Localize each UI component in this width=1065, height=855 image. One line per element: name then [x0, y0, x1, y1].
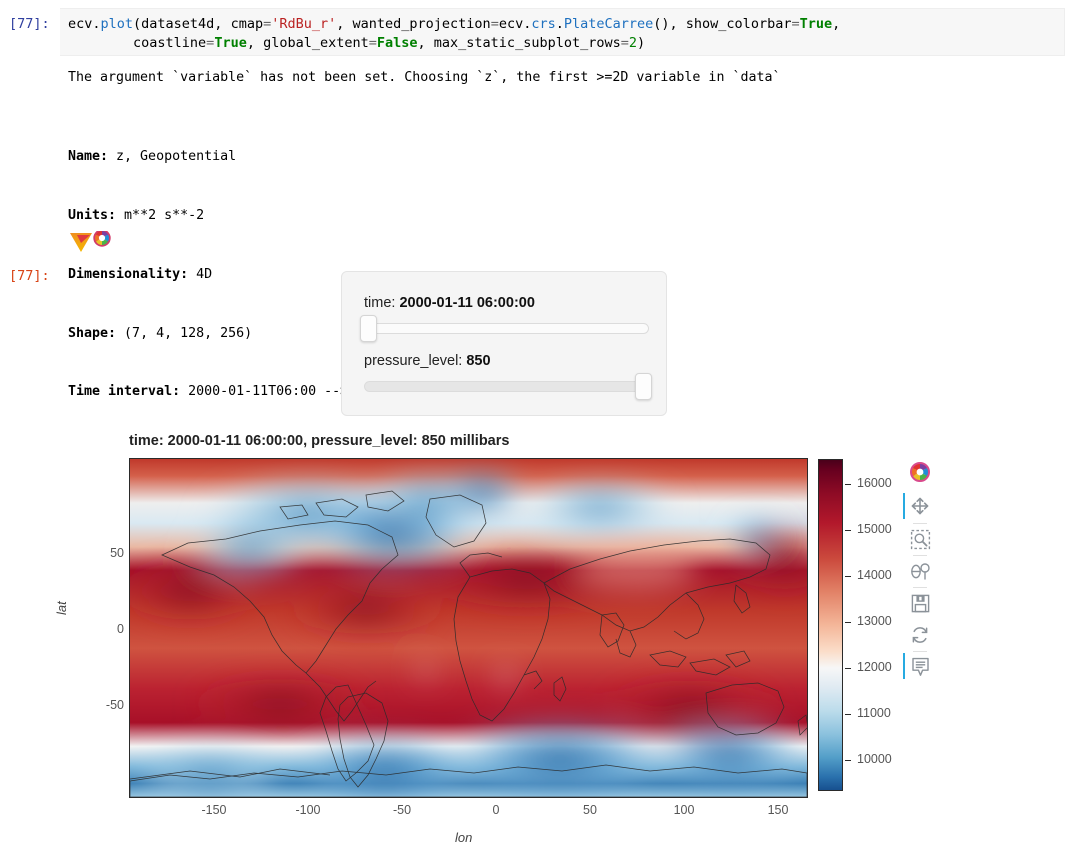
x-tick-label: -150	[184, 803, 244, 817]
plot-container: time: 2000-01-11 06:00:00, pressure_leve…	[0, 425, 1065, 855]
code-token-operator: =	[369, 35, 377, 51]
reset-icon[interactable]	[905, 620, 935, 650]
output-prompt: [77]:	[9, 268, 50, 284]
metadata-key: Shape:	[68, 326, 116, 341]
bokeh-logo-icon	[905, 457, 935, 487]
colorbar-tick-label: 16000	[857, 476, 892, 490]
colorbar-tick-label: 13000	[857, 614, 892, 628]
time-slider-label: time: 2000-01-11 06:00:00	[364, 295, 535, 311]
code-line-2: coastline=True, global_extent=False, max…	[68, 34, 1056, 53]
code-token-operator: =	[263, 16, 271, 32]
metadata-value: m**2 s**-2	[116, 208, 204, 223]
metadata-value: z, Geopotential	[108, 149, 236, 164]
x-tick-label: 0	[466, 803, 526, 817]
code-token: ecv.	[68, 16, 101, 32]
stdout-message: The argument `variable` has not been set…	[68, 68, 780, 88]
time-slider-track[interactable]	[364, 323, 649, 334]
wheel-zoom-icon[interactable]	[905, 556, 935, 586]
pressure-value: 850	[466, 353, 490, 369]
box-zoom-icon[interactable]	[905, 524, 935, 554]
pressure-level-slider-track[interactable]	[364, 381, 649, 392]
colorbar-tick-label: 12000	[857, 660, 892, 674]
y-tick-label: 50	[64, 546, 124, 560]
time-label-prefix: time:	[364, 295, 399, 311]
metadata-value: 4D	[188, 267, 212, 282]
code-token: , global_extent	[247, 35, 369, 51]
pressure-level-slider-handle[interactable]	[635, 373, 652, 400]
holoviews-bokeh-logo-icon	[68, 231, 114, 253]
hover-icon[interactable]	[905, 652, 935, 682]
code-token: coastline	[68, 35, 206, 51]
code-token-keyword: True	[214, 35, 247, 51]
y-axis-ticks: 50 0 -50	[52, 458, 124, 798]
notebook-page: [77]: ecv.plot(dataset4d, cmap='RdBu_r',…	[0, 0, 1065, 855]
code-token: , max_static_subplot_rows	[418, 35, 621, 51]
pan-icon[interactable]	[905, 491, 935, 521]
metadata-key: Time interval:	[68, 384, 180, 399]
metadata-row: Name: z, Geopotential	[68, 147, 484, 167]
code-token-function: PlateCarree	[564, 16, 653, 32]
time-value: 2000-01-11 06:00:00	[399, 295, 534, 311]
colorbar-tick-label: 10000	[857, 752, 892, 766]
colorbar	[818, 459, 843, 791]
code-token-operator: =	[491, 16, 499, 32]
y-tick-label: -50	[64, 698, 124, 712]
code-cell[interactable]: [77]: ecv.plot(dataset4d, cmap='RdBu_r',…	[0, 8, 1065, 56]
x-tick-label: -50	[372, 803, 432, 817]
metadata-value: (7, 4, 128, 256)	[116, 326, 252, 341]
time-slider-handle[interactable]	[360, 315, 377, 342]
save-icon[interactable]	[905, 588, 935, 618]
code-token: ,	[832, 16, 840, 32]
code-token-string: 'RdBu_r'	[271, 16, 336, 32]
code-token-function: plot	[101, 16, 134, 32]
pressure-label-prefix: pressure_level:	[364, 353, 466, 369]
y-tick-label: 0	[64, 622, 124, 636]
x-tick-label: -100	[278, 803, 338, 817]
colorbar-tick-label: 15000	[857, 522, 892, 536]
code-token-number: 2	[629, 35, 637, 51]
colorbar-tick-label: 14000	[857, 568, 892, 582]
plot-title: time: 2000-01-11 06:00:00, pressure_leve…	[129, 433, 509, 449]
widget-panel: time: 2000-01-11 06:00:00 pressure_level…	[341, 271, 667, 416]
input-prompt: [77]:	[9, 16, 50, 32]
x-axis-ticks: -150 -100 -50 0 50 100 150	[129, 803, 808, 827]
code-token: .	[556, 16, 564, 32]
code-token: (dataset4d, cmap	[133, 16, 263, 32]
code-line-1: ecv.plot(dataset4d, cmap='RdBu_r', wante…	[68, 15, 1056, 34]
pressure-level-slider-label: pressure_level: 850	[364, 353, 491, 369]
x-tick-label: 150	[748, 803, 808, 817]
code-token-keyword: True	[800, 16, 833, 32]
metadata-key: Name:	[68, 149, 108, 164]
code-editor[interactable]: ecv.plot(dataset4d, cmap='RdBu_r', wante…	[60, 8, 1065, 56]
x-tick-label: 50	[560, 803, 620, 817]
code-token-operator: =	[791, 16, 799, 32]
code-token: ecv.	[499, 16, 532, 32]
code-token-keyword: False	[377, 35, 418, 51]
map-plot-area[interactable]	[129, 458, 808, 798]
x-axis-label: lon	[455, 830, 472, 845]
code-token-function: crs	[531, 16, 555, 32]
code-token: , wanted_projection	[336, 16, 490, 32]
colorbar-tick-label: 11000	[857, 706, 891, 720]
code-token-operator: =	[621, 35, 629, 51]
metadata-key: Units:	[68, 208, 116, 223]
x-tick-label: 100	[654, 803, 714, 817]
code-token: (), show_colorbar	[653, 16, 791, 32]
metadata-key: Dimensionality:	[68, 267, 188, 282]
bokeh-toolbar[interactable]	[903, 457, 939, 717]
metadata-row: Units: m**2 s**-2	[68, 206, 484, 226]
code-token: )	[637, 35, 645, 51]
